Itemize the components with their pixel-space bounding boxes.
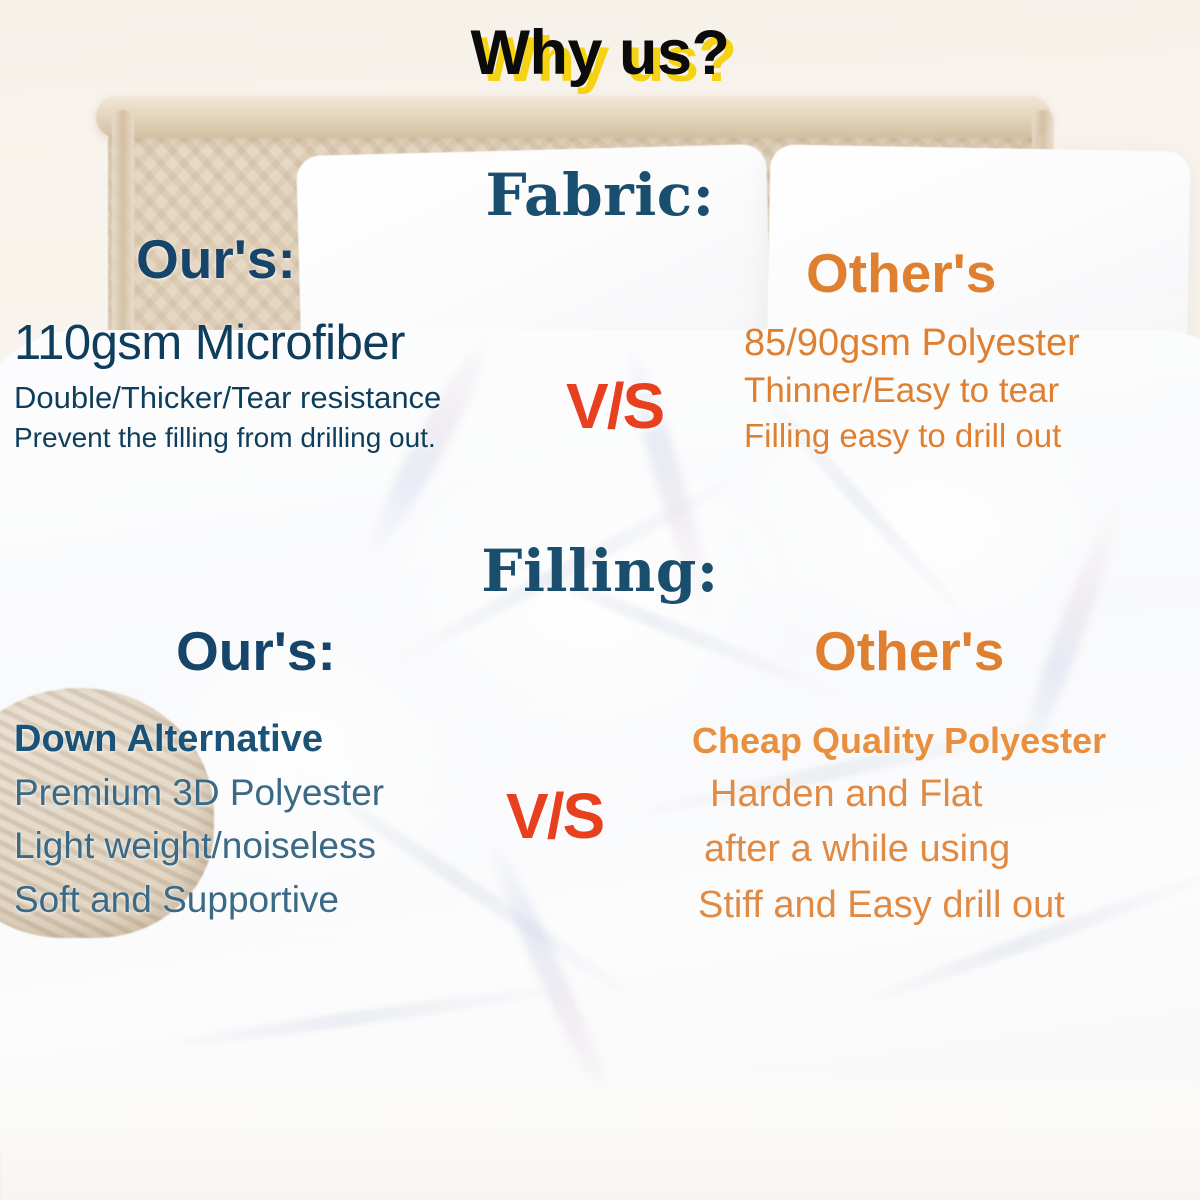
ours-fabric-line-1: 110gsm Microfiber xyxy=(14,316,441,372)
ours-heading-fabric: Our's: xyxy=(136,232,296,287)
ours-heading-filling: Our's: xyxy=(176,624,336,679)
section-heading-filling: Filling: xyxy=(0,542,1200,600)
ours-filling-line-2: Premium 3D Polyester xyxy=(14,772,384,814)
others-details-filling: Cheap Quality Polyester Harden and Flat … xyxy=(692,720,1106,927)
ours-filling-line-3: Light weight/noiseless xyxy=(14,825,384,867)
others-heading-filling: Other's xyxy=(814,624,1004,679)
ours-details-fabric: 110gsm Microfiber Double/Thicker/Tear re… xyxy=(14,316,441,454)
vs-badge-filling: V/S xyxy=(506,784,603,848)
vs-badge-fabric: V/S xyxy=(566,374,663,438)
others-fabric-line-1: 85/90gsm Polyester xyxy=(744,322,1080,365)
others-fabric-line-2: Thinner/Easy to tear xyxy=(744,371,1080,411)
others-filling-line-4: Stiff and Easy drill out xyxy=(692,884,1106,927)
others-details-fabric: 85/90gsm Polyester Thinner/Easy to tear … xyxy=(744,322,1080,455)
ours-fabric-line-3: Prevent the filling from drilling out. xyxy=(14,422,441,454)
ours-filling-line-1: Down Alternative xyxy=(14,718,384,761)
infographic-content: Why us? Fabric: Our's: Other's V/S 110gs… xyxy=(0,0,1200,1200)
others-filling-line-1: Cheap Quality Polyester xyxy=(692,720,1106,761)
page-title: Why us? xyxy=(0,22,1200,85)
ours-filling-line-4: Soft and Supportive xyxy=(14,879,384,921)
others-fabric-line-3: Filling easy to drill out xyxy=(744,417,1080,455)
others-heading-fabric: Other's xyxy=(806,246,996,301)
ours-details-filling: Down Alternative Premium 3D Polyester Li… xyxy=(14,718,384,921)
others-filling-line-2: Harden and Flat xyxy=(692,773,1106,816)
section-heading-fabric: Fabric: xyxy=(0,166,1200,224)
ours-fabric-line-2: Double/Thicker/Tear resistance xyxy=(14,380,441,415)
others-filling-line-3: after a while using xyxy=(692,828,1106,871)
